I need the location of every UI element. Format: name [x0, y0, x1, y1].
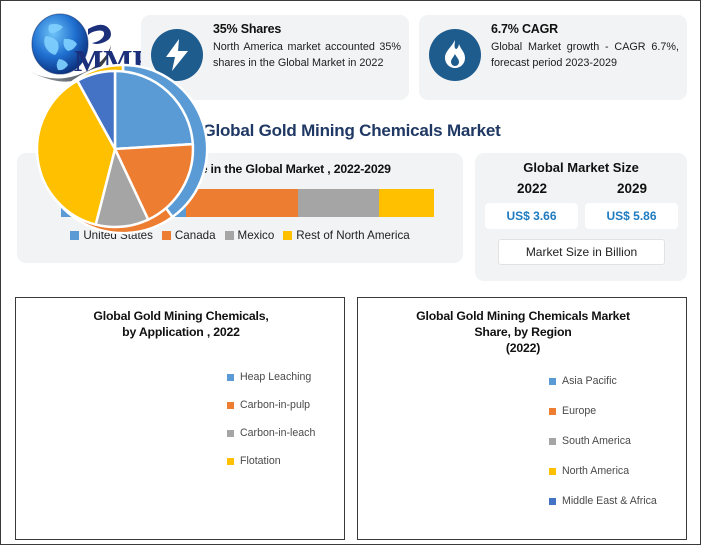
- legend-label: North America: [562, 465, 629, 477]
- legend-swatch-icon: [283, 231, 292, 240]
- market-size-year-2022: 2022: [487, 181, 577, 196]
- pie-title-line-3: (2022): [506, 341, 540, 355]
- pie-title-line-2: by Application , 2022: [122, 325, 240, 339]
- market-size-year-2029: 2029: [587, 181, 677, 196]
- pie-title-line-1: Global Gold Mining Chemicals,: [93, 309, 268, 323]
- legend-label: Middle East & Africa: [562, 495, 657, 507]
- application-pie-legend: Heap Leaching Carbon-in-pulp Carbon-in-l…: [227, 363, 315, 475]
- legend-item: Heap Leaching: [227, 363, 315, 391]
- legend-item: Europe: [549, 396, 657, 426]
- infographic-root: MMR 35% Shares North America market acco…: [0, 0, 701, 545]
- legend-item: South America: [549, 426, 657, 456]
- highlight-card-cagr: 6.7% CAGR Global Market growth - CAGR 6.…: [419, 15, 687, 100]
- card-title: 6.7% CAGR: [491, 22, 558, 36]
- legend-item: Middle East & Africa: [549, 486, 657, 516]
- legend-label: Flotation: [240, 455, 281, 467]
- application-pie-title: Global Gold Mining Chemicals, by Applica…: [22, 308, 340, 340]
- legend-label: Rest of North America: [296, 229, 409, 242]
- legend-swatch-icon: [549, 438, 556, 445]
- legend-swatch-icon: [227, 402, 234, 409]
- legend-item: North America: [549, 456, 657, 486]
- legend-swatch-icon: [549, 498, 556, 505]
- legend-label: Heap Leaching: [240, 371, 311, 383]
- legend-swatch-icon: [227, 374, 234, 381]
- market-size-value-2022: US$ 3.66: [485, 203, 578, 229]
- legend-swatch-icon: [225, 231, 234, 240]
- bar-segment-mexico: [298, 189, 379, 217]
- legend-item: Rest of North America: [283, 229, 409, 242]
- legend-item: Carbon-in-pulp: [227, 391, 315, 419]
- card-body: Global Market growth - CAGR 6.7%, foreca…: [491, 40, 679, 71]
- region-pie-chart: [27, 63, 207, 238]
- legend-swatch-icon: [549, 378, 556, 385]
- bar-segment-rest-of-north-america: [379, 189, 434, 217]
- legend-item: Carbon-in-leach: [227, 419, 315, 447]
- region-pie-legend: Asia Pacific Europe South America North …: [549, 366, 657, 516]
- pie-title-line-1: Global Gold Mining Chemicals Market: [416, 309, 630, 323]
- pie-slice-asia-pacific: [115, 71, 193, 149]
- global-market-size-panel: Global Market Size 2022 2029 US$ 3.66 US…: [475, 153, 687, 281]
- region-pie-title: Global Gold Mining Chemicals Market Shar…: [364, 308, 682, 356]
- pie-title-line-2: Share, by Region: [474, 325, 571, 339]
- card-title: 35% Shares: [213, 22, 281, 36]
- legend-label: Carbon-in-pulp: [240, 399, 310, 411]
- card-body: North America market accounted 35% share…: [213, 40, 401, 71]
- legend-label: Asia Pacific: [562, 375, 617, 387]
- legend-label: Carbon-in-leach: [240, 427, 315, 439]
- market-size-title: Global Market Size: [475, 160, 687, 175]
- legend-swatch-icon: [549, 468, 556, 475]
- legend-label: Mexico: [238, 229, 275, 242]
- legend-swatch-icon: [549, 408, 556, 415]
- legend-label: South America: [562, 435, 631, 447]
- legend-swatch-icon: [227, 458, 234, 465]
- legend-item: Flotation: [227, 447, 315, 475]
- flame-icon: [429, 29, 481, 81]
- legend-item: Asia Pacific: [549, 366, 657, 396]
- market-size-unit-label: Market Size in Billion: [498, 239, 665, 265]
- legend-item: Mexico: [225, 229, 275, 242]
- market-size-value-2029: US$ 5.86: [585, 203, 678, 229]
- legend-swatch-icon: [227, 430, 234, 437]
- legend-label: Europe: [562, 405, 596, 417]
